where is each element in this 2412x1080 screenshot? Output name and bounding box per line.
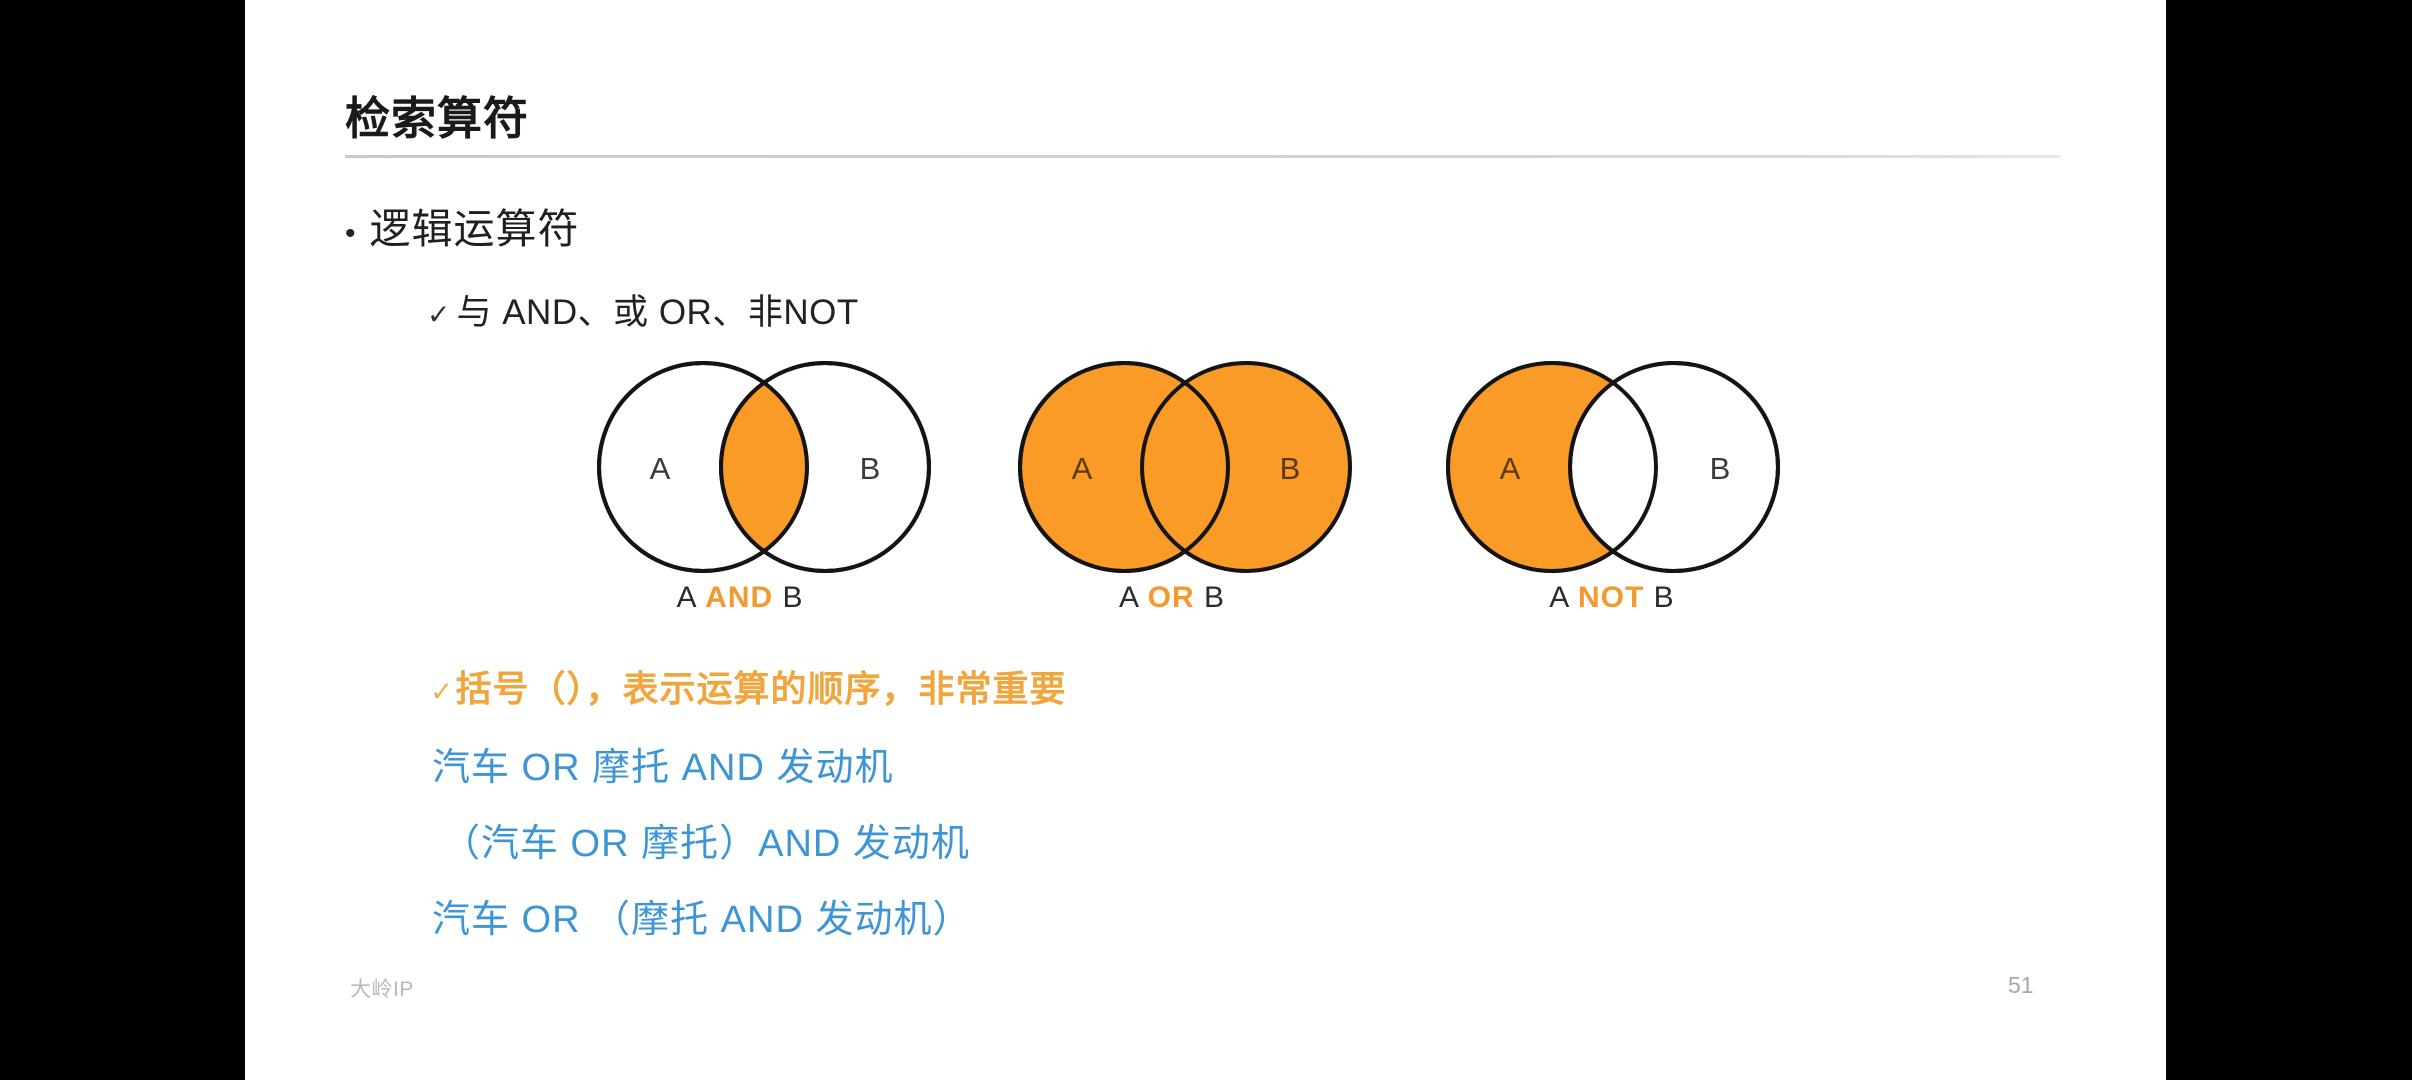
letterbox-bar-right <box>2166 0 2412 1080</box>
example-expression-1: 汽车 OR 摩托 AND 发动机 <box>432 736 893 791</box>
venn-not-caption-right: B <box>1654 581 1675 614</box>
example-expression-3: 汽车 OR （摩托 AND 发动机） <box>432 888 971 943</box>
slide-viewer: 检索算符 • 逻辑运算符 ✓ 与 AND、或 OR、非NOT <box>0 0 2412 1080</box>
venn-or-label-a: A <box>1072 451 1093 486</box>
sub-bullet-label: 与 AND、或 OR、非NOT <box>456 284 858 335</box>
venn-or-caption-right: B <box>1204 581 1225 614</box>
venn-diagram-not: A B A NOT B <box>1412 355 1862 630</box>
example-expression-2: （汽车 OR 摩托）AND 发动机 <box>442 812 970 867</box>
sub-bullet-item-operators: ✓ 与 AND、或 OR、非NOT <box>427 284 859 335</box>
page-number: 51 <box>2008 972 2034 999</box>
checkmark-icon-orange: ✓ <box>430 678 453 706</box>
venn-not-label-a: A <box>1500 451 1521 486</box>
venn-or-circle-b <box>1142 363 1350 571</box>
venn-diagram-group: A B A AND B A B A <box>540 355 1880 630</box>
venn-not-graphic: A B <box>1412 355 1862 585</box>
bullet-label: 逻辑运算符 <box>370 195 580 255</box>
bullet-item-logical-operators: • 逻辑运算符 <box>345 195 580 255</box>
footer-brand-label: 大岭IP <box>350 973 414 1003</box>
title-divider <box>345 155 2061 158</box>
emphasis-row-parentheses: ✓ 括号（），表示运算的顺序，非常重要 <box>430 660 1066 712</box>
page-title: 检索算符 <box>345 82 529 147</box>
emphasis-label: 括号（），表示运算的顺序，非常重要 <box>455 660 1066 712</box>
venn-not-label-b: B <box>1710 451 1731 486</box>
venn-or-label-b: B <box>1280 451 1301 486</box>
venn-and-caption-right: B <box>783 581 804 614</box>
presentation-slide: 检索算符 • 逻辑运算符 ✓ 与 AND、或 OR、非NOT <box>245 0 2166 1080</box>
venn-diagram-or: A B A OR B <box>992 355 1442 630</box>
venn-and-caption: A AND B <box>590 581 890 615</box>
checkmark-icon: ✓ <box>427 301 450 329</box>
letterbox-bar-left <box>0 0 245 1080</box>
venn-or-caption-operator: OR <box>1148 581 1195 614</box>
venn-not-caption-operator: NOT <box>1578 581 1644 614</box>
venn-not-caption: A NOT B <box>1462 581 1762 615</box>
venn-and-caption-operator: AND <box>705 581 773 614</box>
venn-or-caption: A OR B <box>1022 581 1322 615</box>
venn-and-label-a: A <box>650 451 671 486</box>
venn-diagram-and: A B A AND B <box>540 355 990 630</box>
venn-not-caption-left: A <box>1549 581 1568 614</box>
venn-and-label-b: B <box>860 451 881 486</box>
venn-or-graphic: A B <box>992 355 1442 585</box>
venn-and-graphic: A B <box>540 355 990 585</box>
venn-and-caption-left: A <box>676 581 695 614</box>
venn-or-caption-left: A <box>1119 581 1138 614</box>
venn-not-difference-fill <box>1412 355 1862 585</box>
bullet-dot-icon: • <box>345 219 356 249</box>
